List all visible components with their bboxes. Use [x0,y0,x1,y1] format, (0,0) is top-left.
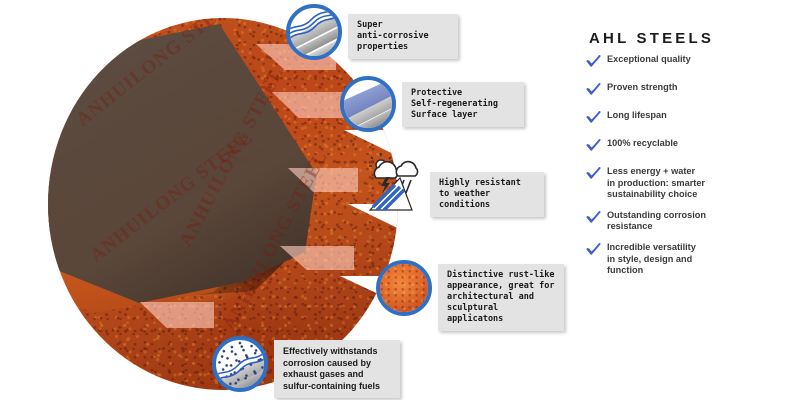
benefit-label: Proven strength [607,82,677,94]
callout-label: Highly resistant to weather conditions [430,172,544,217]
benefits-panel: AHL STEELS Exceptional qualityProven str… [586,30,786,286]
protective-surface-layer-icon [340,76,396,132]
callout-label: Distinctive rust-like appearance, great … [438,264,564,331]
check-icon [586,83,602,101]
check-icon [586,139,602,157]
check-icon [586,167,602,185]
check-icon [586,111,602,129]
benefits-list: Exceptional qualityProven strengthLong l… [586,54,786,277]
storm-weather-icon [364,152,426,214]
check-icon [586,211,602,229]
benefit-label: Long lifespan [607,110,667,122]
benefit-label: 100% recyclable [607,138,678,150]
benefit-item: Long lifespan [586,110,786,129]
benefit-label: Exceptional quality [607,54,691,66]
benefit-item: Outstanding corrosion resistance [586,210,786,233]
check-icon [586,243,602,261]
benefit-label: Outstanding corrosion resistance [607,210,706,233]
benefit-item: Less energy + water in production: smart… [586,166,786,201]
infographic-root: ANHUILONG STEEL ANHUILONG STEEL ANHUILON… [0,0,800,400]
benefit-item: Exceptional quality [586,54,786,73]
callout-label: Protective Self-regenerating Surface lay… [402,82,524,127]
steel-plate-illustration: ANHUILONG STEEL ANHUILONG STEEL ANHUILON… [48,18,398,390]
plate-ellipse-mask: ANHUILONG STEEL ANHUILONG STEEL ANHUILON… [48,18,398,390]
benefit-label: Less energy + water in production: smart… [607,166,705,201]
callout-label: Super anti-corrosive properties [348,14,458,59]
benefit-item: Incredible versatility in style, design … [586,242,786,277]
benefit-item: 100% recyclable [586,138,786,157]
benefit-label: Incredible versatility in style, design … [607,242,696,277]
callout-weather-resistant[interactable]: Highly resistant to weather conditions [364,152,426,219]
speckled-corrosion-icon [212,336,268,392]
benefit-item: Proven strength [586,82,786,101]
brand-title: AHL STEELS [589,30,786,47]
check-icon [586,55,602,73]
layered-coating-waves-icon [286,4,342,60]
callout-label: Effectively withstands corrosion caused … [274,340,400,398]
rust-texture-circle-icon [376,260,432,316]
